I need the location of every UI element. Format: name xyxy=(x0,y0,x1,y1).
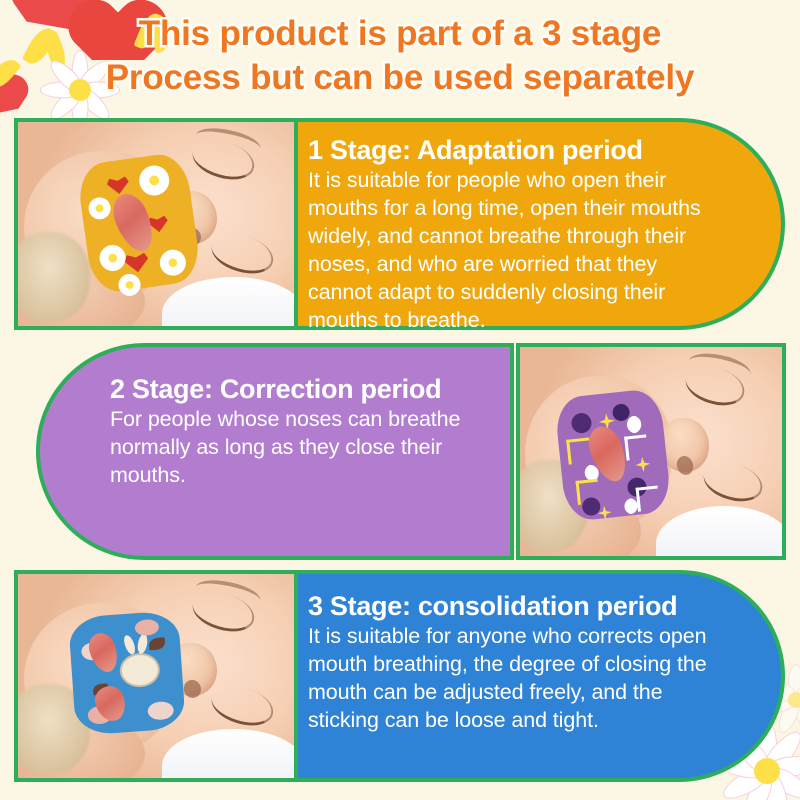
music-note-icon xyxy=(575,479,599,505)
heart-icon xyxy=(123,251,150,274)
stage-heading-2: 2 Stage: Correction period xyxy=(110,373,490,405)
flower-sprig-icon xyxy=(134,619,159,637)
leaf-icon xyxy=(149,637,166,650)
title-line-2: Process but can be used separately xyxy=(0,56,800,100)
stage-heading-1: 1 Stage: Adaptation period xyxy=(308,134,717,166)
daisy-flower-icon xyxy=(137,164,171,198)
stage-body-2: For people whose noses can breathe norma… xyxy=(110,405,490,489)
stage-photo-1 xyxy=(14,118,298,330)
mouth-tape-purple-night xyxy=(554,388,672,522)
stage-photo-3 xyxy=(14,570,298,782)
stage-body-3: It is suitable for anyone who corrects o… xyxy=(308,622,717,734)
music-note-icon xyxy=(636,485,660,511)
polka-dot xyxy=(570,413,592,435)
heart-icon xyxy=(106,175,130,196)
poster-title: This product is part of a 3 stage Proces… xyxy=(0,12,800,100)
poster-canvas: This product is part of a 3 stage Proces… xyxy=(0,0,800,800)
stage-heading-3: 3 Stage: consolidation period xyxy=(308,590,717,622)
bunny-icon xyxy=(119,652,161,689)
moon-icon xyxy=(626,414,646,434)
music-note-icon xyxy=(624,434,648,460)
stage-card-2: 2 Stage: Correction period For people wh… xyxy=(36,343,514,560)
mouth-tape-blue-bunny xyxy=(68,610,186,735)
stage-card-3: 3 Stage: consolidation period It is suit… xyxy=(286,570,785,782)
stage-card-1: 1 Stage: Adaptation period It is suitabl… xyxy=(286,118,785,330)
daisy-flower-icon xyxy=(98,244,127,273)
daisy-flower-icon xyxy=(159,248,188,277)
daisy-flower-icon xyxy=(87,196,112,221)
stage-body-1: It is suitable for people who open their… xyxy=(308,166,717,334)
flower-sprig-icon xyxy=(147,701,174,721)
title-line-1: This product is part of a 3 stage xyxy=(0,12,800,56)
mouth-tape-yellow-floral xyxy=(75,151,202,295)
stage-photo-2 xyxy=(516,343,786,560)
bunny-ear-icon xyxy=(137,633,149,654)
